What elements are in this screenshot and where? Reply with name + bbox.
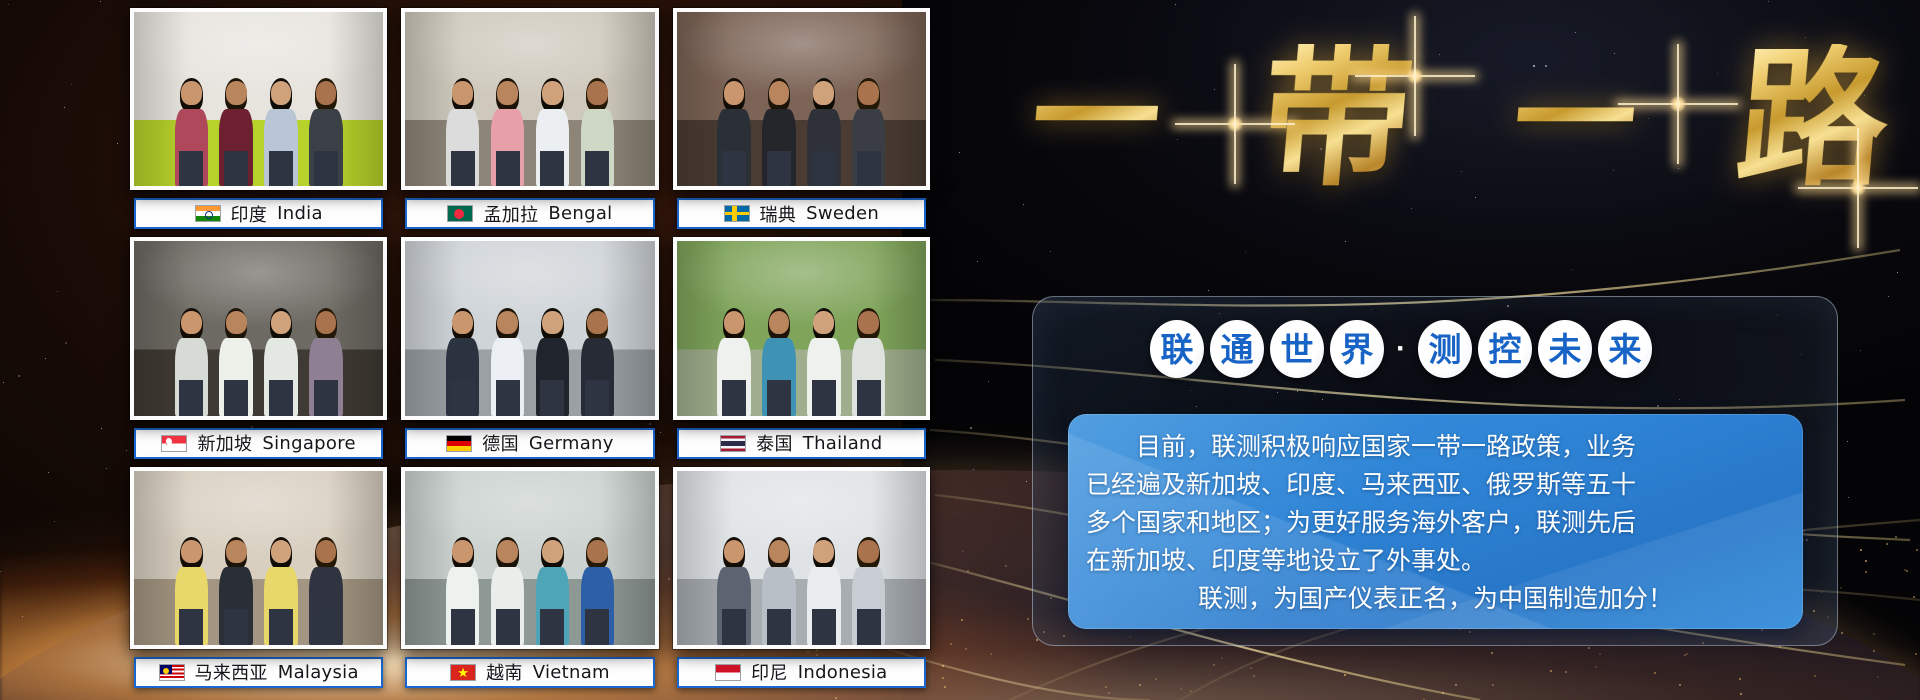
flag-indonesia-icon — [715, 664, 741, 681]
person-head — [181, 311, 202, 334]
slogan-badge: 通 — [1210, 320, 1264, 378]
person-head — [542, 540, 563, 563]
person-head — [271, 81, 292, 104]
slogan-badge: 世 — [1270, 320, 1324, 378]
country-label-en: Indonesia — [798, 662, 888, 683]
country-photo[interactable] — [130, 8, 387, 190]
person — [261, 540, 301, 645]
person — [306, 540, 346, 645]
country-label: 越南 — [486, 659, 523, 685]
country-caption[interactable]: 越南 Vietnam — [405, 657, 654, 688]
slogan-badge: 联 — [1150, 320, 1204, 378]
photo-people — [677, 294, 926, 416]
person — [577, 540, 617, 645]
person — [261, 311, 301, 416]
person — [443, 81, 483, 186]
photo-people — [677, 64, 926, 186]
slogan-char: 界 — [1341, 333, 1374, 366]
photo-image — [677, 471, 926, 645]
person — [443, 311, 483, 416]
gallery-cell[interactable]: 印度 India — [130, 8, 387, 229]
person-head — [542, 311, 563, 334]
person-legs — [269, 151, 293, 187]
flag-india-icon — [195, 205, 221, 222]
country-caption[interactable]: 德国 Germany — [405, 428, 654, 459]
person-legs — [314, 609, 338, 645]
person-legs — [857, 151, 881, 187]
gallery-cell[interactable]: 德国 Germany — [401, 237, 658, 458]
country-caption[interactable]: 新加坡 Singapore — [134, 428, 383, 459]
slogan-separator: · — [1390, 332, 1412, 366]
country-caption[interactable]: 马来西亚 Malaysia — [134, 657, 383, 688]
country-label-en: Bengal — [548, 203, 612, 224]
person — [532, 81, 572, 186]
person-head — [724, 81, 745, 104]
person — [577, 311, 617, 416]
person-legs — [722, 609, 746, 645]
country-label-en: Thailand — [803, 433, 883, 454]
person-head — [542, 81, 563, 104]
gallery-cell[interactable]: 越南 Vietnam — [401, 467, 658, 688]
person-legs — [224, 609, 248, 645]
country-label-en: Singapore — [262, 433, 356, 454]
person-head — [724, 311, 745, 334]
country-label-en: Sweden — [806, 203, 879, 224]
person — [759, 81, 799, 186]
person-legs — [179, 380, 203, 416]
slogan-char: 控 — [1489, 333, 1522, 366]
person — [759, 311, 799, 416]
slogan-char: 来 — [1609, 333, 1642, 366]
person-legs — [812, 151, 836, 187]
person-legs — [767, 380, 791, 416]
country-label-en: Germany — [529, 433, 614, 454]
country-label-en: India — [277, 203, 323, 224]
photo-people — [134, 523, 383, 645]
slogan-badge: 控 — [1478, 320, 1532, 378]
person-legs — [722, 380, 746, 416]
about-line-3: 多个国家和地区；为更好服务海外客户，联测先后 — [1086, 504, 1785, 542]
person-legs — [767, 151, 791, 187]
person-legs — [179, 151, 203, 187]
person-head — [226, 311, 247, 334]
country-label: 德国 — [482, 430, 519, 456]
person-legs — [540, 151, 564, 187]
person-head — [769, 311, 790, 334]
person-head — [813, 81, 834, 104]
person — [261, 81, 301, 186]
about-line-2: 已经遍及新加坡、印度、马来西亚、俄罗斯等五十 — [1086, 466, 1785, 504]
person-head — [769, 540, 790, 563]
person-head — [452, 311, 473, 334]
photo-image — [134, 12, 383, 186]
person-head — [769, 81, 790, 104]
gallery-cell[interactable]: 马来西亚 Malaysia — [130, 467, 387, 688]
person-head — [452, 81, 473, 104]
person-legs — [585, 609, 609, 645]
photo-image — [677, 12, 926, 186]
person-legs — [314, 151, 338, 187]
about-line-4: 在新加坡、印度等地设立了外事处。 — [1086, 542, 1785, 580]
slogan-char: 通 — [1221, 333, 1254, 366]
photo-image — [405, 12, 654, 186]
gallery-cell[interactable]: 新加坡 Singapore — [130, 237, 387, 458]
gallery-cell[interactable]: 泰国 Thailand — [673, 237, 930, 458]
gallery-cell[interactable]: 孟加拉 Bengal — [401, 8, 658, 229]
person — [488, 540, 528, 645]
person — [804, 311, 844, 416]
person-head — [587, 540, 608, 563]
person-legs — [496, 151, 520, 187]
slogan-char: 联 — [1161, 333, 1194, 366]
person-legs — [269, 609, 293, 645]
flag-germany-icon — [446, 435, 472, 452]
country-label: 印尼 — [751, 659, 788, 685]
person-legs — [812, 380, 836, 416]
person — [804, 540, 844, 645]
country-photo[interactable] — [130, 467, 387, 649]
person-legs — [496, 609, 520, 645]
country-caption[interactable]: 印尼 Indonesia — [677, 657, 926, 688]
person — [171, 540, 211, 645]
slogan-badges: 联通世界·测控未来 — [1150, 318, 1710, 380]
person-legs — [224, 151, 248, 187]
country-photo-grid: 印度 India — [130, 8, 930, 688]
person — [216, 311, 256, 416]
photo-people — [405, 523, 654, 645]
person-head — [271, 540, 292, 563]
person-head — [316, 540, 337, 563]
country-photo[interactable] — [401, 467, 658, 649]
country-photo[interactable] — [401, 237, 658, 419]
about-paragraph: 目前，联测积极响应国家一带一路政策，业务 已经遍及新加坡、印度、马来西亚、俄罗斯… — [1068, 414, 1803, 618]
person-head — [316, 311, 337, 334]
person-legs — [722, 151, 746, 187]
person — [577, 81, 617, 186]
person — [532, 540, 572, 645]
person-legs — [812, 609, 836, 645]
person — [171, 311, 211, 416]
flag-sweden-icon — [724, 205, 750, 222]
person-head — [724, 540, 745, 563]
person-head — [181, 540, 202, 563]
photo-image — [405, 471, 654, 645]
person-legs — [857, 609, 881, 645]
person-head — [181, 81, 202, 104]
person — [306, 81, 346, 186]
person — [306, 311, 346, 416]
country-label: 泰国 — [756, 430, 793, 456]
person — [714, 311, 754, 416]
person-head — [271, 311, 292, 334]
flag-singapore-icon — [161, 435, 187, 452]
photo-people — [405, 64, 654, 186]
about-line-5: 联测，为国产仪表正名，为中国制造加分！ — [1086, 580, 1785, 618]
slogan-badge: 未 — [1538, 320, 1592, 378]
country-caption[interactable]: 泰国 Thailand — [677, 428, 926, 459]
person-head — [497, 540, 518, 563]
country-caption[interactable]: 孟加拉 Bengal — [405, 198, 654, 229]
person-legs — [857, 380, 881, 416]
person-head — [858, 540, 879, 563]
country-photo[interactable] — [401, 8, 658, 190]
country-caption[interactable]: 印度 India — [134, 198, 383, 229]
country-label-en: Malaysia — [278, 662, 359, 683]
country-label: 新加坡 — [197, 430, 252, 456]
flag-thailand-icon — [720, 435, 746, 452]
person — [532, 311, 572, 416]
country-photo[interactable] — [673, 237, 930, 419]
country-photo[interactable] — [673, 467, 930, 649]
person-head — [497, 311, 518, 334]
person-legs — [314, 380, 338, 416]
person — [171, 81, 211, 186]
country-photo[interactable] — [673, 8, 930, 190]
person — [714, 540, 754, 645]
photo-image — [134, 241, 383, 415]
country-label-en: Vietnam — [533, 662, 610, 683]
person-head — [858, 81, 879, 104]
person-head — [813, 540, 834, 563]
person-head — [226, 81, 247, 104]
person-head — [497, 81, 518, 104]
person-head — [587, 311, 608, 334]
person — [443, 540, 483, 645]
about-card: 目前，联测积极响应国家一带一路政策，业务 已经遍及新加坡、印度、马来西亚、俄罗斯… — [1068, 414, 1803, 629]
person — [488, 311, 528, 416]
country-label: 印度 — [231, 201, 268, 227]
country-photo[interactable] — [130, 237, 387, 419]
flag-vietnam-icon — [450, 664, 476, 681]
person-legs — [451, 609, 475, 645]
person — [488, 81, 528, 186]
country-label: 瑞典 — [760, 201, 797, 227]
person — [849, 81, 889, 186]
person-head — [587, 81, 608, 104]
country-caption[interactable]: 瑞典 Sweden — [677, 198, 926, 229]
photo-image — [134, 471, 383, 645]
person-head — [813, 311, 834, 334]
person-legs — [540, 609, 564, 645]
person — [804, 81, 844, 186]
person — [216, 81, 256, 186]
person-head — [452, 540, 473, 563]
slogan-char: 世 — [1281, 333, 1314, 366]
slogan-badge: 测 — [1418, 320, 1472, 378]
person-legs — [540, 380, 564, 416]
photo-people — [677, 523, 926, 645]
slogan-badge: 界 — [1330, 320, 1384, 378]
country-label: 孟加拉 — [483, 201, 538, 227]
photo-people — [405, 294, 654, 416]
person-head — [316, 81, 337, 104]
person — [216, 540, 256, 645]
person-legs — [585, 380, 609, 416]
person-legs — [496, 380, 520, 416]
person-legs — [451, 151, 475, 187]
person-legs — [767, 609, 791, 645]
photo-image — [677, 241, 926, 415]
photo-image — [405, 241, 654, 415]
slogan-char: 测 — [1429, 333, 1462, 366]
gallery-cell[interactable]: 瑞典 Sweden — [673, 8, 930, 229]
person — [849, 540, 889, 645]
person-legs — [224, 380, 248, 416]
slogan-char: 未 — [1549, 333, 1582, 366]
person-legs — [585, 151, 609, 187]
country-label: 马来西亚 — [195, 659, 268, 685]
person-head — [226, 540, 247, 563]
person — [849, 311, 889, 416]
person — [714, 81, 754, 186]
person-legs — [179, 609, 203, 645]
photo-people — [134, 294, 383, 416]
photo-people — [134, 64, 383, 186]
person-legs — [451, 380, 475, 416]
person — [759, 540, 799, 645]
banner-stage: 印度 India — [0, 0, 1920, 700]
slogan-badge: 来 — [1598, 320, 1652, 378]
person-head — [858, 311, 879, 334]
flag-bangladesh-icon — [447, 205, 473, 222]
person-legs — [269, 380, 293, 416]
flag-malaysia-icon — [159, 664, 185, 681]
about-line-1: 目前，联测积极响应国家一带一路政策，业务 — [1086, 428, 1785, 466]
gallery-cell[interactable]: 印尼 Indonesia — [673, 467, 930, 688]
